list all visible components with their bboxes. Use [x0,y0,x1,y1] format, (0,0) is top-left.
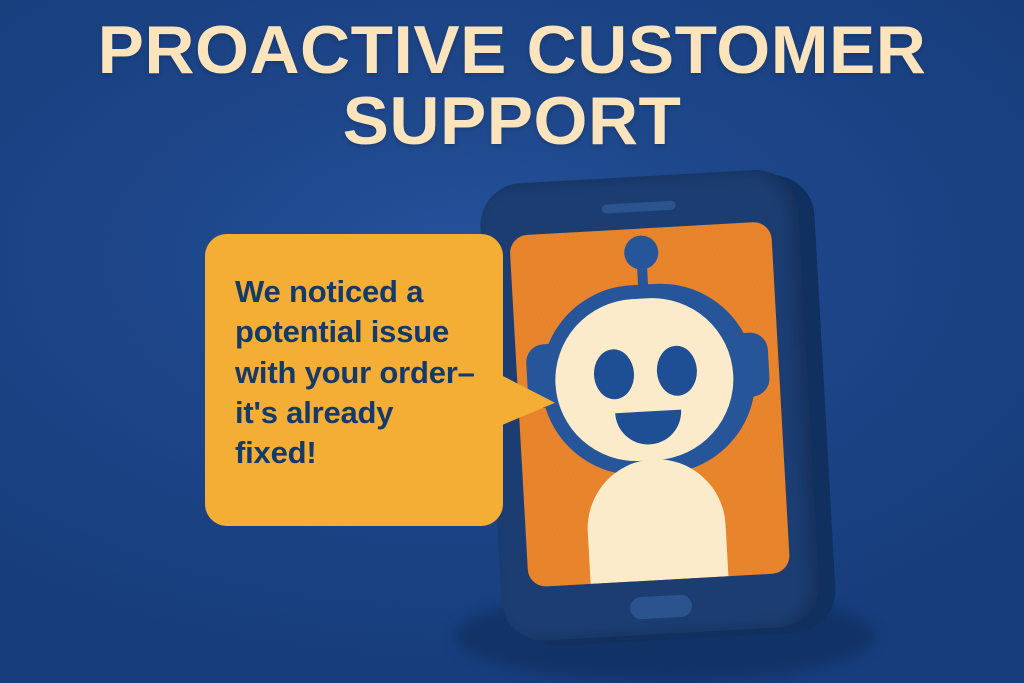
page-title: PROACTIVE CUSTOMER SUPPORT [0,18,1024,153]
robot-torso [584,455,729,584]
title-line-2: SUPPORT [0,89,1024,154]
antenna-ball-icon [623,235,659,271]
title-line-1: PROACTIVE CUSTOMER [0,18,1024,83]
poster-canvas: PROACTIVE CUSTOMER SUPPORT [0,0,1024,683]
speech-bubble: We noticed a potential issue with your o… [205,234,503,526]
speech-bubble-text: We noticed a potential issue with your o… [235,272,487,473]
home-button[interactable] [629,594,692,619]
earpiece-speaker-icon [602,201,676,214]
